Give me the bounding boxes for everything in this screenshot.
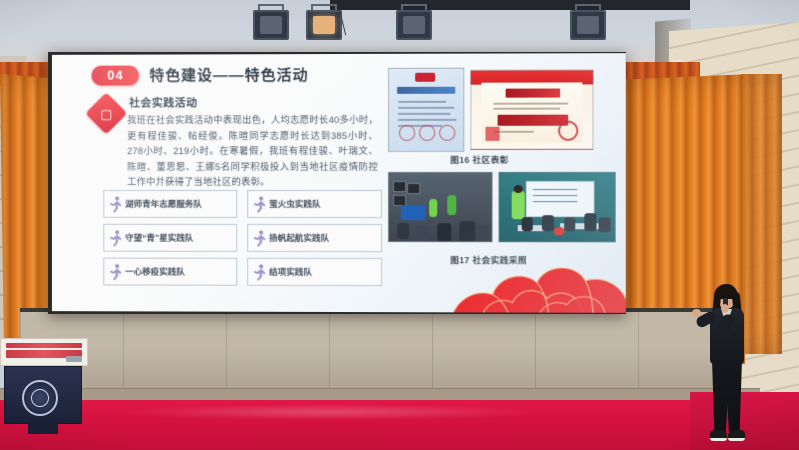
runner-icon — [108, 263, 122, 280]
lectern — [0, 330, 92, 422]
speech-bubble-icon: ▢ — [85, 92, 127, 134]
stage-light-2 — [570, 4, 606, 40]
slide-title: 特色建设——特色活动 — [149, 64, 308, 85]
carpet-sheen — [120, 404, 540, 420]
projection-screen: 04 特色建设——特色活动 ▢ 社会实践活动 我班在社会实践活动中表现出色，人均… — [48, 52, 626, 314]
runner-icon — [108, 195, 122, 212]
team-item: 守望“青”星实践队 — [103, 224, 237, 252]
runner-icon — [252, 229, 266, 246]
slide-header: 04 特色建设——特色活动 — [91, 64, 308, 85]
runner-icon — [108, 229, 122, 246]
stage-light-0 — [253, 4, 289, 40]
figure-certificate-honor — [470, 69, 593, 150]
team-label: 萤火虫实践队 — [269, 198, 320, 209]
team-label: 扬帆起航实践队 — [269, 232, 329, 243]
university-seal-icon — [22, 380, 58, 416]
team-item: 结项实践队 — [247, 258, 382, 286]
stage-light-1 — [396, 4, 432, 40]
lighting-truss — [330, 0, 690, 10]
presenter — [690, 282, 760, 450]
team-item: 一心移疫实践队 — [103, 258, 237, 286]
team-label: 结项实践队 — [269, 266, 312, 277]
lectern-sign — [0, 338, 88, 366]
team-label: 一心移疫实践队 — [125, 266, 185, 277]
runner-icon — [252, 263, 266, 280]
team-list: 湖师青年志愿服务队 萤火虫实践队 守望“青”星实践队 — [103, 190, 382, 286]
runner-icon — [252, 195, 266, 212]
slide-number-badge: 04 — [91, 65, 139, 85]
team-label: 守望“青”星实践队 — [125, 232, 193, 243]
figure-certificate-volunteer — [388, 68, 464, 152]
peony-flower-decoration — [440, 230, 626, 313]
lectern-microphone-icon — [66, 356, 82, 362]
slide-content: 04 特色建设——特色活动 ▢ 社会实践活动 我班在社会实践活动中表现出色，人均… — [52, 53, 626, 313]
section-heading: 社会实践活动 — [129, 94, 197, 110]
team-item: 萤火虫实践队 — [247, 190, 382, 218]
team-label: 湖师青年志愿服务队 — [125, 198, 202, 209]
team-item: 扬帆起航实践队 — [247, 224, 382, 252]
screenshot-root: 04 特色建设——特色活动 ▢ 社会实践活动 我班在社会实践活动中表现出色，人均… — [0, 0, 799, 450]
slide-body-text: 我班在社会实践活动中表现出色，人均志愿时长40多小时，更有程佳骏、帖经俊。陈暄同… — [127, 112, 378, 190]
stage-light-3 — [306, 4, 342, 40]
figure-caption-16: 图16 社区表彰 — [450, 154, 508, 166]
team-item: 湖师青年志愿服务队 — [103, 190, 237, 218]
